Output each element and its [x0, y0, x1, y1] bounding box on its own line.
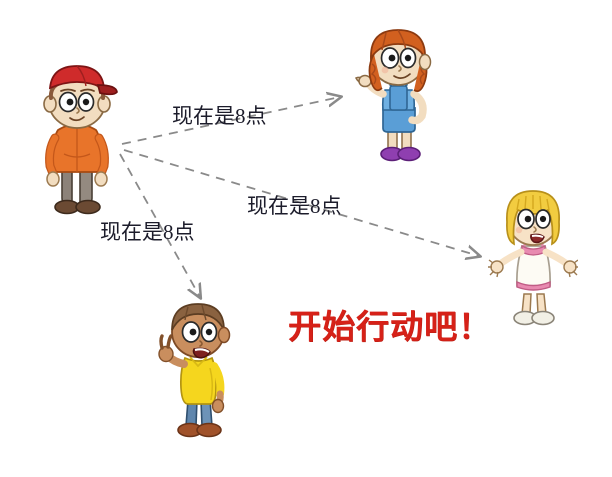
call-to-action-text: 开始行动吧！	[288, 312, 492, 345]
character-boy-red-cap	[28, 58, 124, 218]
diagram-canvas: 现在是8点 现在是8点 现在是8点 开始行动吧！	[0, 0, 612, 477]
message-label-to-girl-blonde: 现在是8点	[247, 196, 342, 217]
character-boy-yellow-shirt	[152, 296, 242, 444]
character-girl-braids	[352, 24, 444, 170]
message-label-to-boy-yellow: 现在是8点	[100, 222, 195, 243]
character-girl-blonde	[488, 186, 578, 334]
message-label-to-girl-braids: 现在是8点	[172, 106, 267, 127]
